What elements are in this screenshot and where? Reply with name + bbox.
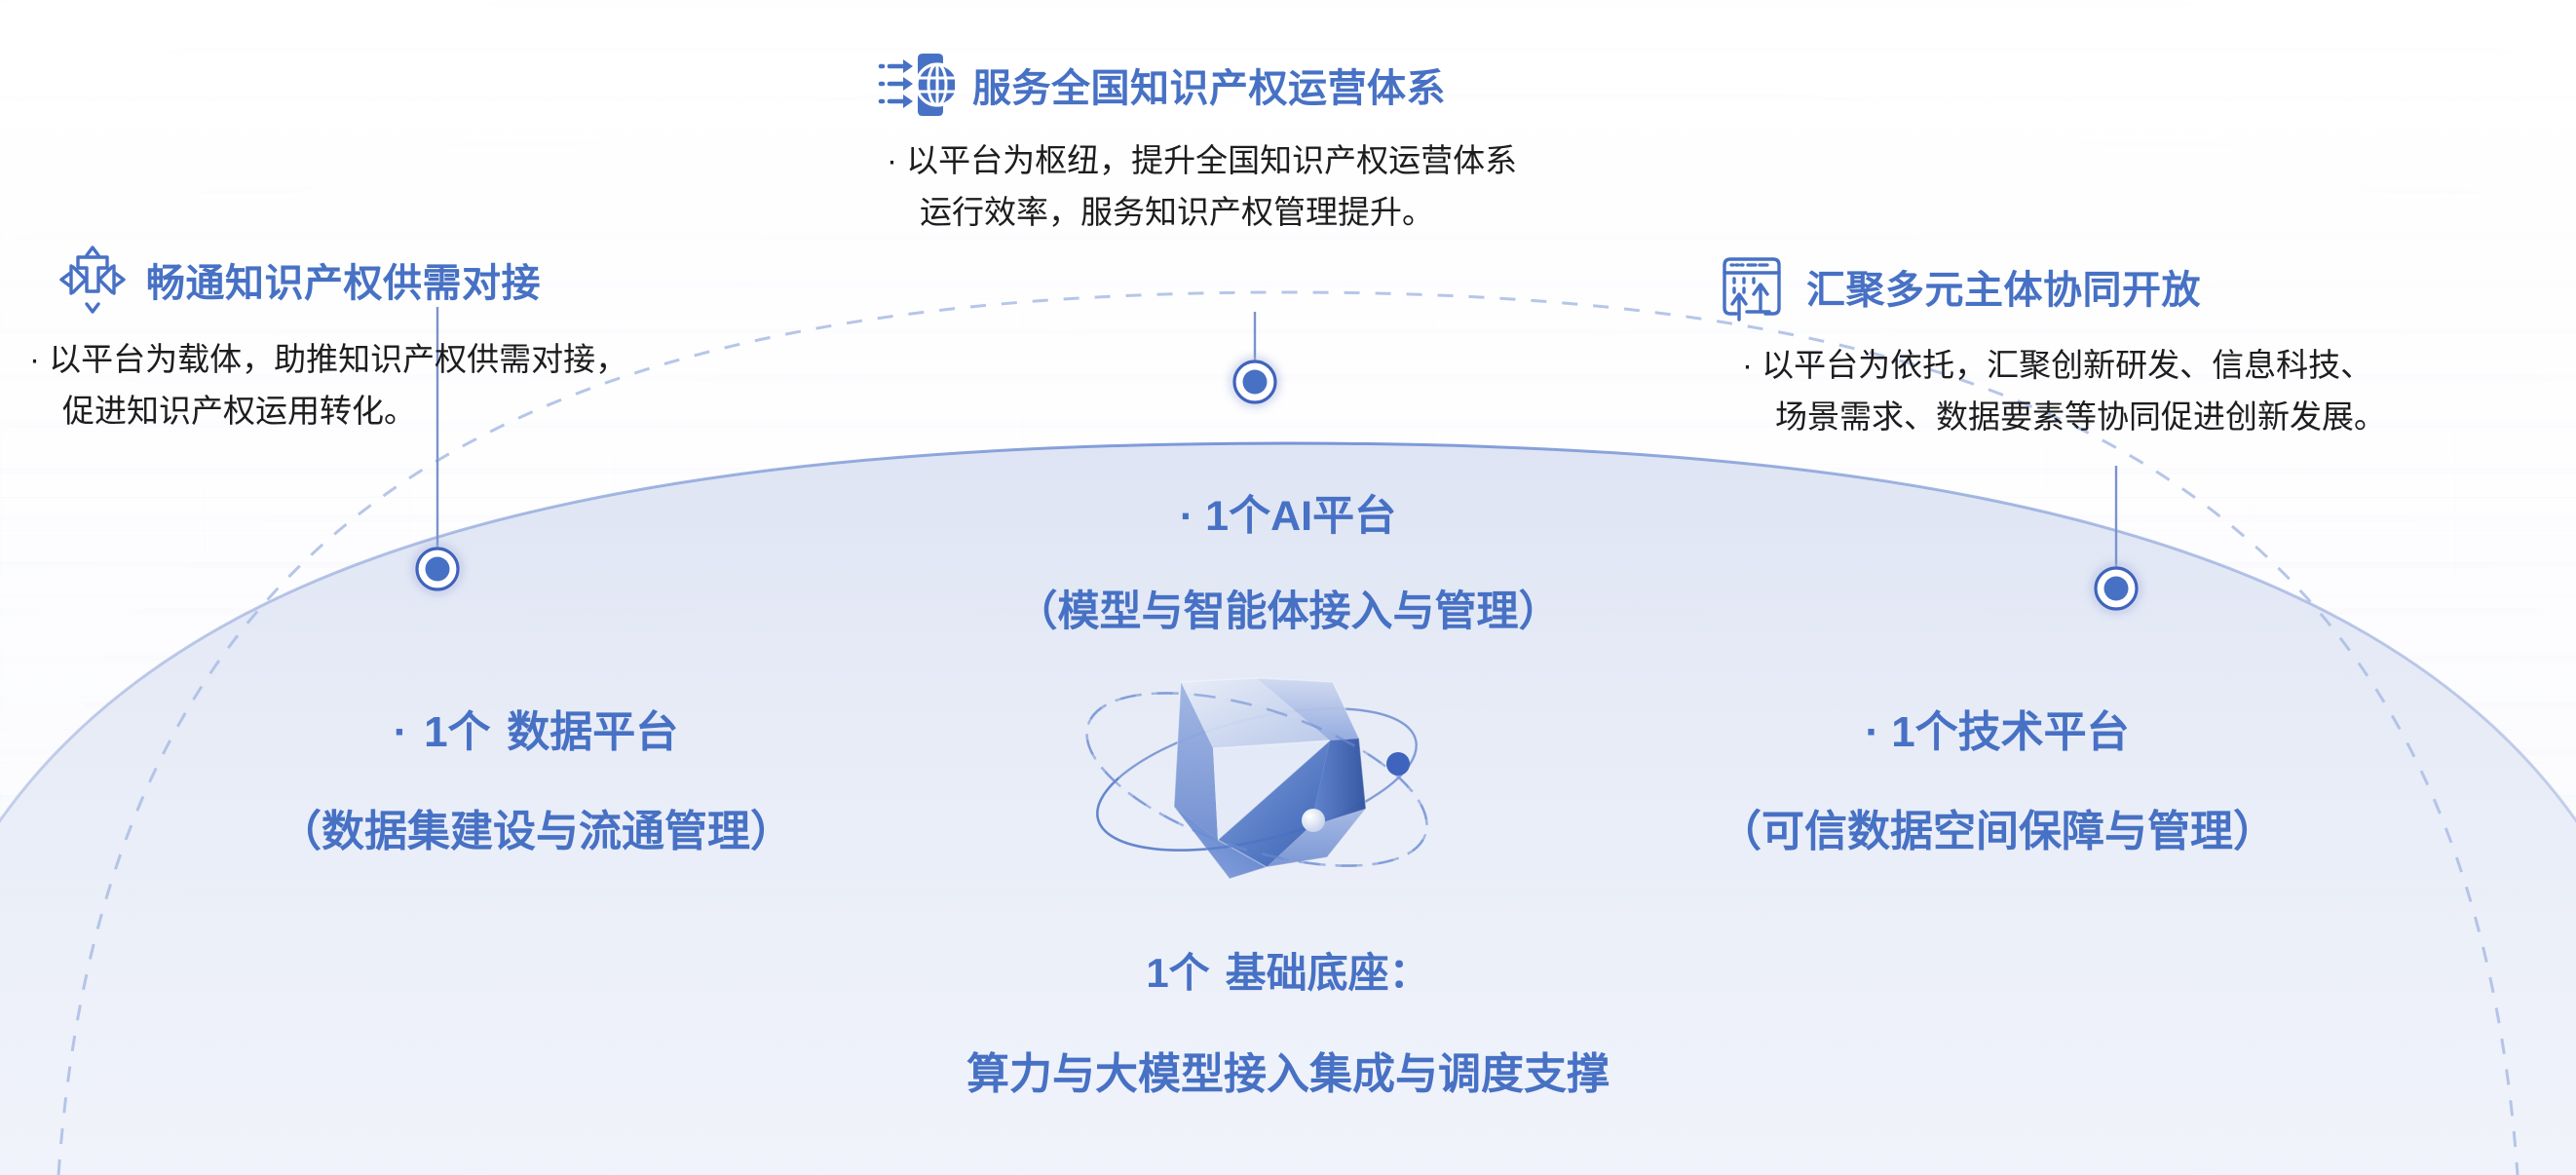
callout-center-head: 服务全国知识产权运营体系 xyxy=(857,49,1734,121)
callout-right-title: 汇聚多元主体协同开放 xyxy=(1806,258,2201,315)
label-base-layer: 1个基础底座： 算力与大模型接入集成与调度支撑 xyxy=(801,940,1775,1101)
expand-arrows-t-icon xyxy=(57,244,129,316)
callout-left-body-line-2: 促进知识产权运用转化。 xyxy=(29,385,887,436)
endpoint-dot xyxy=(2104,577,2129,601)
label-ai-platform: · 1个AI平台 （模型与智能体接入与管理） xyxy=(801,482,1775,638)
base-layer-line-1: 1个基础底座： xyxy=(801,940,1775,1000)
ai-platform-line-1: · 1个AI平台 xyxy=(801,482,1775,543)
tech-platform-line-1: · 1个技术平台 xyxy=(1578,697,2416,759)
polyhedron-orbit-icon xyxy=(1067,658,1448,900)
diagram-canvas: 畅通知识产权供需对接 · 以平台为载体，助推知识产权供需对接， 促进知识产权运用… xyxy=(0,0,2576,1175)
endpoint-dot xyxy=(1243,370,1268,395)
orbit-node-light xyxy=(1302,809,1325,832)
tech-platform-line-2: （可信数据空间保障与管理） xyxy=(1578,796,2416,858)
base-layer-count: 1个 xyxy=(1146,950,1209,996)
label-tech-platform: · 1个技术平台 （可信数据空间保障与管理） xyxy=(1578,697,2416,858)
endpoint-dot xyxy=(426,557,450,582)
base-layer-name: 基础底座： xyxy=(1226,950,1430,996)
data-platform-line-1: ·1个数据平台 xyxy=(146,697,926,759)
base-layer-line-2: 算力与大模型接入集成与调度支撑 xyxy=(801,1039,1775,1101)
callout-center-body-line-1: · 以平台为枢纽，提升全国知识产权运营体系 xyxy=(887,134,1734,186)
data-platform-bullet: · xyxy=(394,708,408,756)
callout-right-body-line-2: 场景需求、数据要素等协同促进创新发展。 xyxy=(1742,391,2576,442)
window-upload-arrows-icon xyxy=(1715,251,1789,322)
callout-center-body-line-2: 运行效率，服务知识产权管理提升。 xyxy=(887,186,1734,238)
callout-center-title: 服务全国知识产权运营体系 xyxy=(972,57,1446,113)
callout-left-body: · 以平台为载体，助推知识产权供需对接， 促进知识产权运用转化。 xyxy=(29,333,887,437)
callout-right-head: 汇聚多元主体协同开放 xyxy=(1705,251,2576,322)
label-data-platform: ·1个数据平台 （数据集建设与流通管理） xyxy=(146,697,926,858)
globe-mobile-transfer-icon xyxy=(875,49,955,121)
callout-right-body: · 以平台为依托，汇聚创新研发、信息科技、 场景需求、数据要素等协同促进创新发展… xyxy=(1705,339,2576,443)
callout-left-title: 畅通知识产权供需对接 xyxy=(146,251,541,308)
callout-right-body-line-1: · 以平台为依托，汇聚创新研发、信息科技、 xyxy=(1742,339,2576,391)
orbit-node-dark xyxy=(1386,752,1410,776)
data-platform-line-2: （数据集建设与流通管理） xyxy=(146,796,926,858)
ai-platform-line-2: （模型与智能体接入与管理） xyxy=(801,578,1775,638)
callout-center-body: · 以平台为枢纽，提升全国知识产权运营体系 运行效率，服务知识产权管理提升。 xyxy=(857,134,1734,239)
data-platform-count: 1个 xyxy=(424,708,490,756)
connector-center xyxy=(1234,312,1275,402)
connector-right xyxy=(2096,466,2137,609)
callout-right: 汇聚多元主体协同开放 · 以平台为依托，汇聚创新研发、信息科技、 场景需求、数据… xyxy=(1705,251,2576,443)
callout-center: 服务全国知识产权运营体系 · 以平台为枢纽，提升全国知识产权运营体系 运行效率，… xyxy=(857,49,1734,239)
callout-left: 畅通知识产权供需对接 · 以平台为载体，助推知识产权供需对接， 促进知识产权运用… xyxy=(29,244,887,437)
callout-left-body-line-1: · 以平台为载体，助推知识产权供需对接， xyxy=(29,333,887,385)
callout-left-head: 畅通知识产权供需对接 xyxy=(29,244,887,316)
data-platform-name: 数据平台 xyxy=(507,708,678,756)
